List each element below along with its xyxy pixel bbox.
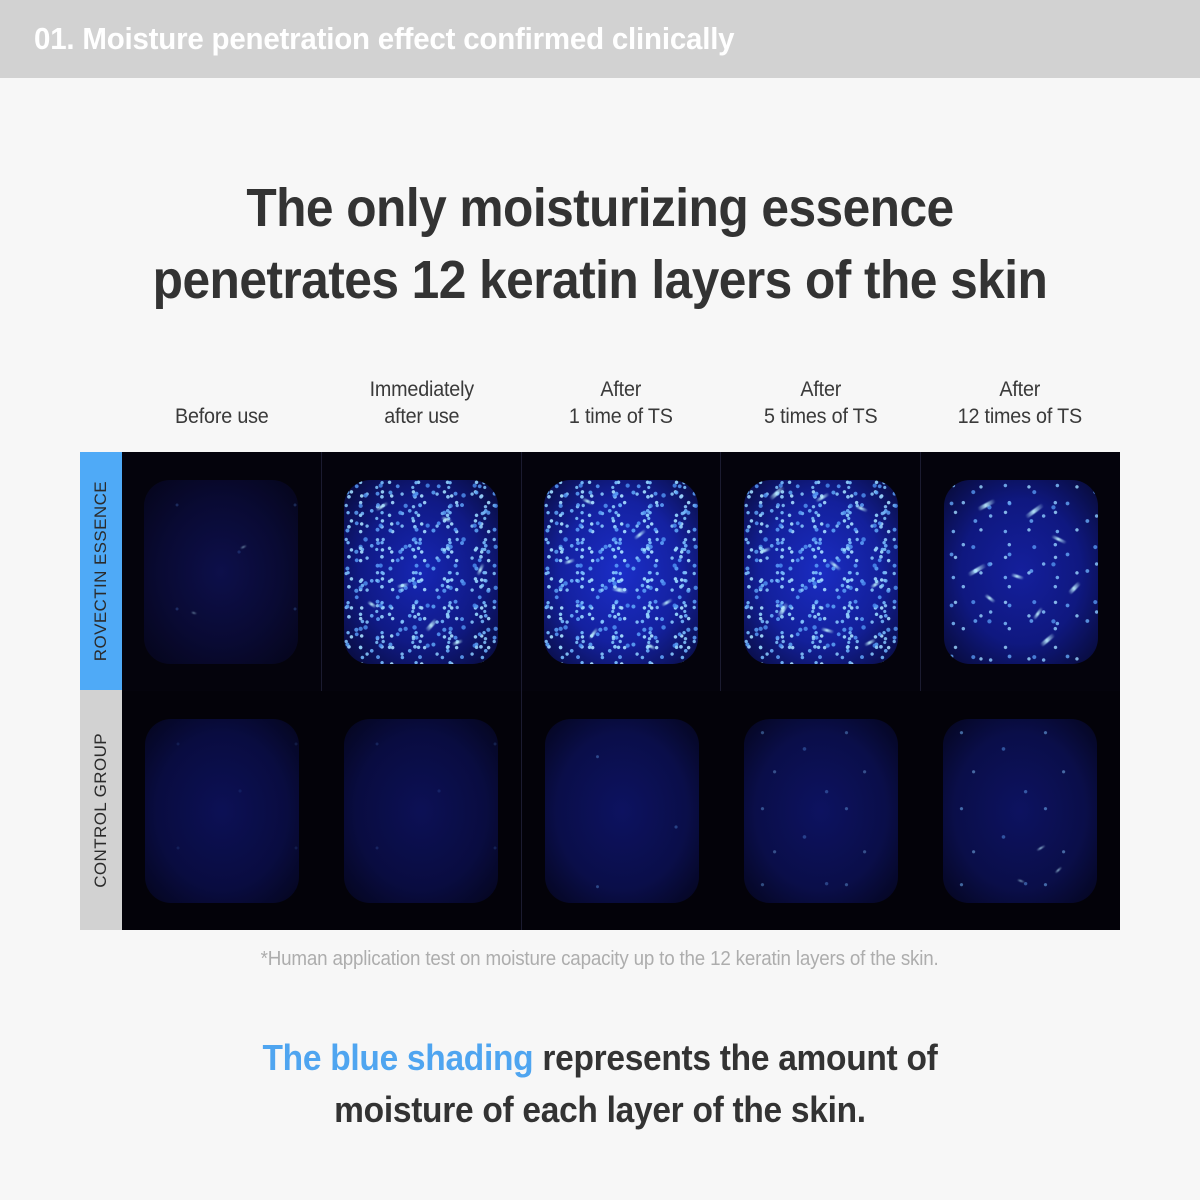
streak-layer [144, 480, 298, 664]
image-cell-control-immediately-after-use [321, 691, 520, 930]
row-label-rovectin-essence: ROVECTIN ESSENCE [80, 452, 122, 690]
legend-caption-line-1: The blue shading represents the amount o… [42, 1032, 1158, 1084]
fluorescence-swatch [144, 480, 298, 664]
speckle-layer [344, 719, 498, 903]
fluorescence-swatch [943, 719, 1097, 903]
fluorescence-comparison-panel: ROVECTIN ESSENCE CONTROL GROUP [80, 452, 1120, 930]
legend-highlight-text: The blue shading [262, 1037, 533, 1078]
image-cell-control-before-use [122, 691, 321, 930]
column-header-before-use: Before use [122, 403, 322, 430]
footnote-text: *Human application test on moisture capa… [261, 948, 939, 971]
row-label-text: ROVECTIN ESSENCE [91, 481, 111, 661]
streak-layer [344, 480, 498, 664]
streak-layer [744, 480, 898, 664]
fluorescence-swatch [744, 719, 898, 903]
fluorescence-swatch [944, 480, 1098, 664]
column-header-line-2: Before use [128, 403, 316, 430]
image-cell-rovectin-after-1-time [521, 452, 721, 691]
column-header-line-2: 12 times of TS [926, 403, 1114, 430]
streak-layer [544, 480, 698, 664]
image-cell-control-after-1-time [521, 691, 721, 930]
speckle-layer [744, 719, 898, 903]
streak-layer [944, 480, 1098, 664]
column-header-line-1: After [727, 376, 915, 403]
column-header-line-1: Immediately [328, 376, 516, 403]
fluorescence-swatch [344, 480, 498, 664]
fluorescence-swatch [544, 480, 698, 664]
row-label-column: ROVECTIN ESSENCE CONTROL GROUP [80, 452, 122, 930]
column-header-after-12-times: After 12 times of TS [920, 376, 1120, 430]
section-header-title: 01. Moisture penetration effect confirme… [34, 21, 734, 57]
column-header-row: Before use Immediately after use After 1… [122, 376, 1120, 430]
row-label-text: CONTROL GROUP [91, 733, 111, 888]
image-row-control-group [122, 691, 1120, 930]
headline-line-1: The only moisturizing essence [48, 172, 1152, 244]
headline-line-2: penetrates 12 keratin layers of the skin [48, 244, 1152, 316]
column-header-line-1: After [926, 376, 1114, 403]
image-cell-rovectin-after-5-times [720, 452, 920, 691]
legend-caption-line-2: moisture of each layer of the skin. [42, 1084, 1158, 1136]
fluorescence-swatch [145, 719, 299, 903]
speckle-layer [145, 719, 299, 903]
column-header-line-1: After [527, 376, 715, 403]
image-cell-control-after-5-times [721, 691, 920, 930]
streak-layer [943, 719, 1097, 903]
promo-page: 01. Moisture penetration effect confirme… [0, 0, 1200, 1200]
column-header-line-2: after use [328, 403, 516, 430]
column-header-after-5-times: After 5 times of TS [721, 376, 921, 430]
fluorescence-swatch [744, 480, 898, 664]
image-cell-control-after-12-times [921, 691, 1120, 930]
fluorescence-swatch [545, 719, 699, 903]
row-label-control-group: CONTROL GROUP [80, 690, 122, 930]
page-title: The only moisturizing essence penetrates… [0, 172, 1200, 316]
image-cell-rovectin-after-12-times [920, 452, 1120, 691]
image-cell-rovectin-immediately-after-use [321, 452, 521, 691]
speckle-layer [545, 719, 699, 903]
column-header-after-1-time: After 1 time of TS [521, 376, 721, 430]
fluorescence-swatch [344, 719, 498, 903]
column-header-line-2: 1 time of TS [527, 403, 715, 430]
image-cell-rovectin-before-use [122, 452, 321, 691]
image-row-rovectin-essence [122, 452, 1120, 691]
legend-caption-rest: represents the amount of [533, 1037, 937, 1078]
section-header-bar: 01. Moisture penetration effect confirme… [0, 0, 1200, 78]
footnote: *Human application test on moisture capa… [0, 948, 1200, 971]
legend-caption: The blue shading represents the amount o… [0, 1032, 1200, 1136]
column-header-line-2: 5 times of TS [727, 403, 915, 430]
fluorescence-image-grid [122, 452, 1120, 930]
column-header-immediately-after-use: Immediately after use [322, 376, 522, 430]
